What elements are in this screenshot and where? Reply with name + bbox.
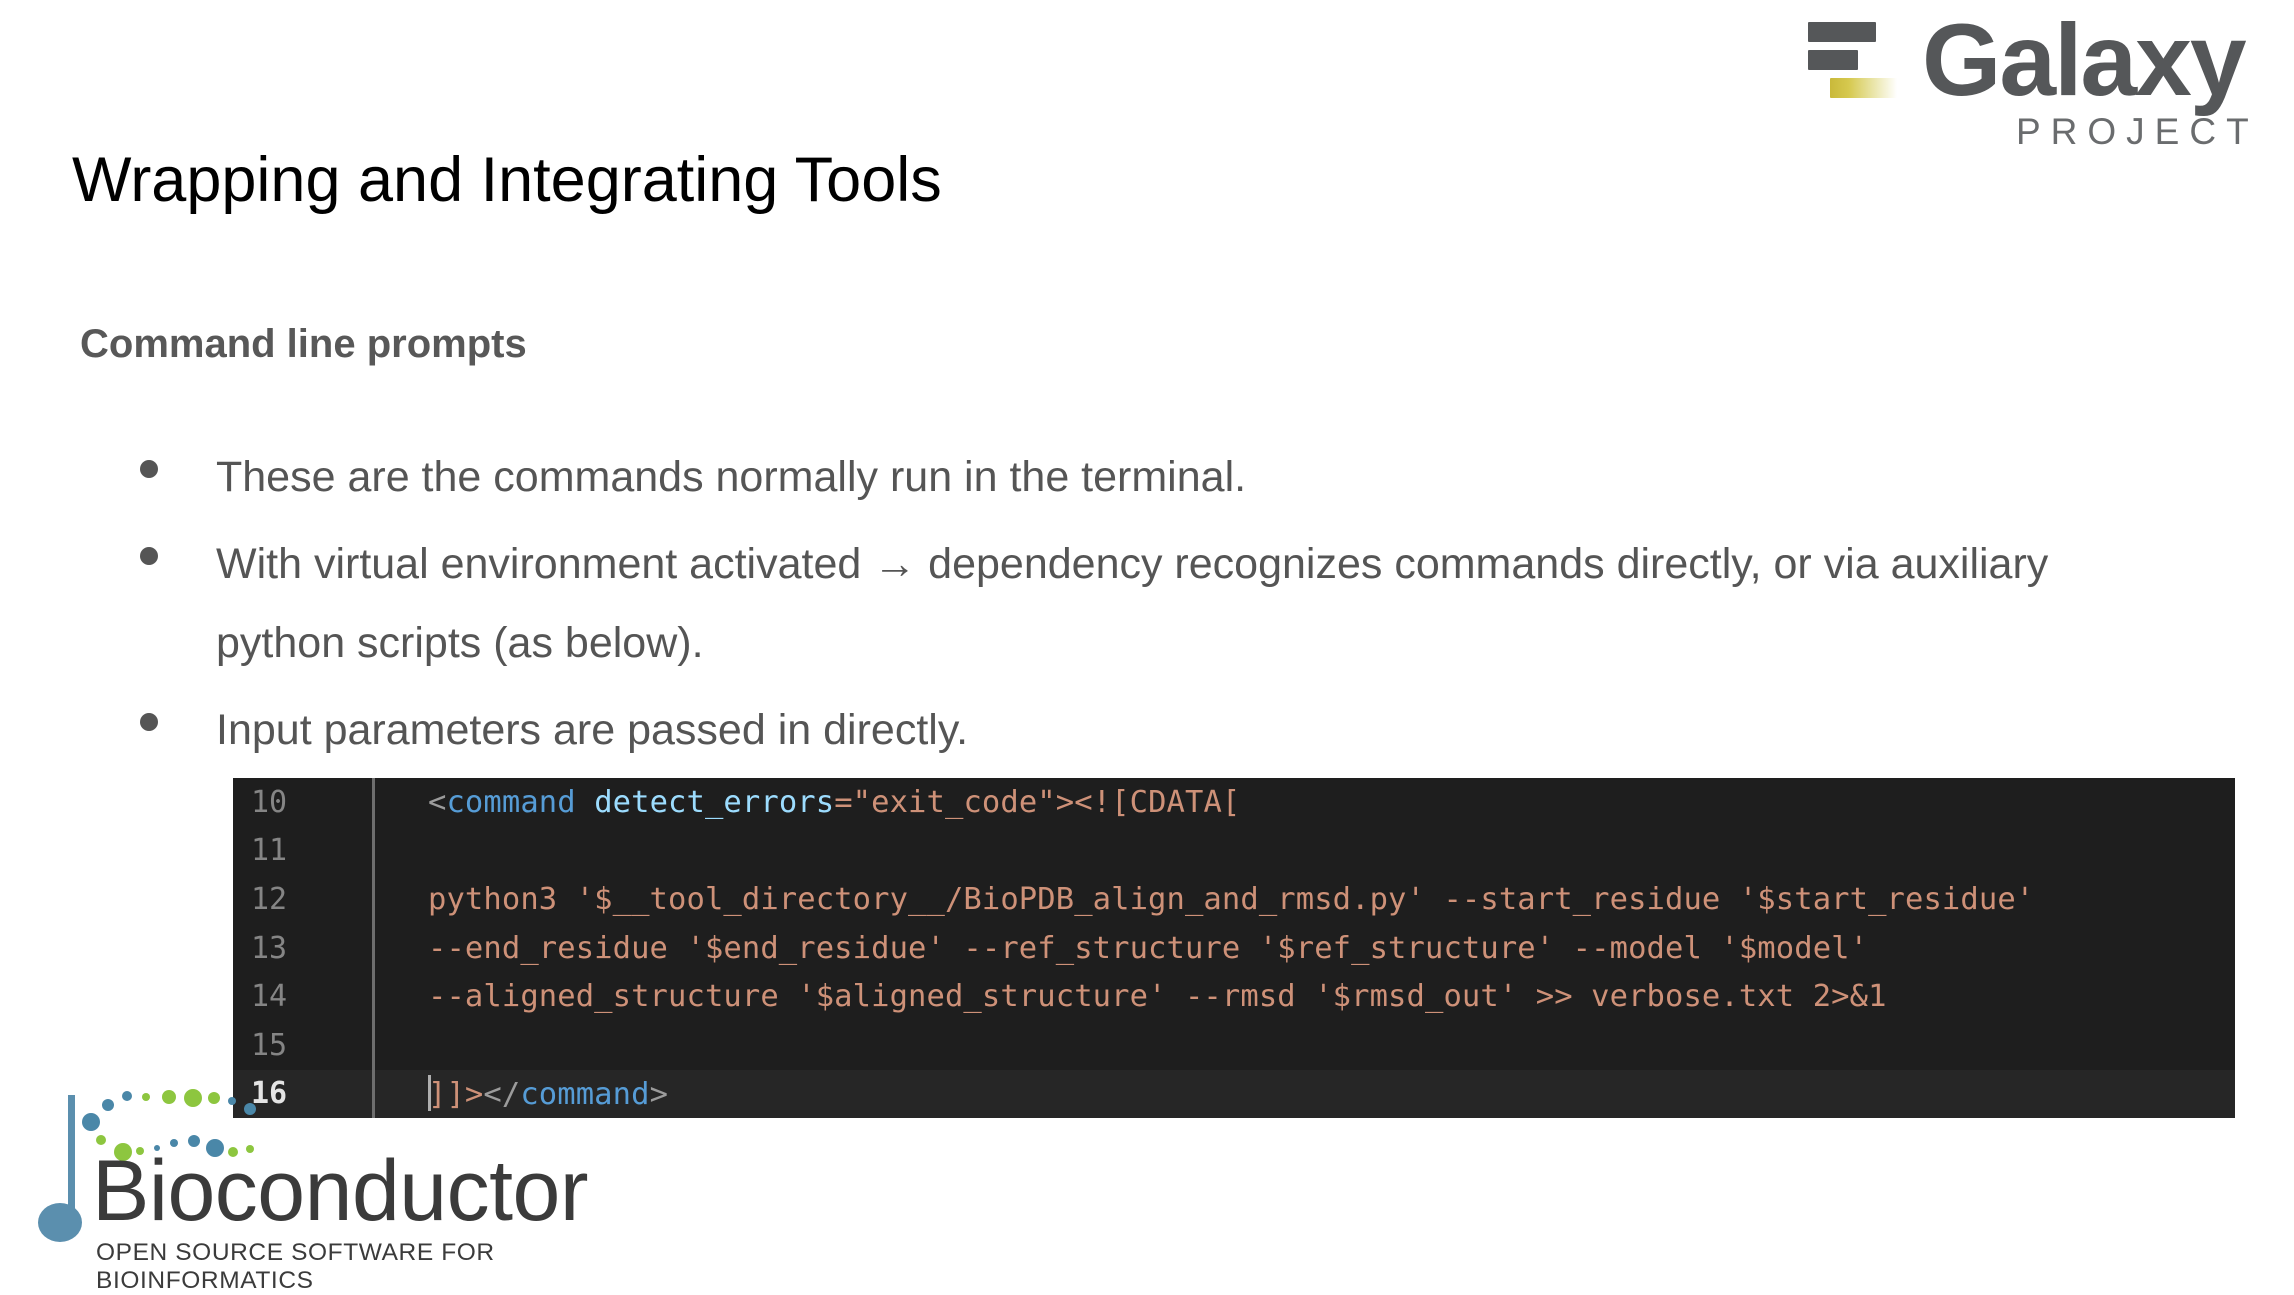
dna-dot-icon — [162, 1090, 176, 1104]
dna-dot-icon — [142, 1093, 150, 1101]
code-token: command — [446, 785, 575, 820]
galaxy-bar-accent — [1830, 78, 1897, 98]
code-line[interactable]: 14--aligned_structure '$aligned_structur… — [233, 972, 2235, 1021]
line-number: 10 — [233, 785, 355, 820]
dna-dot-icon — [208, 1092, 220, 1104]
code-line-content[interactable]: --end_residue '$end_residue' --ref_struc… — [355, 931, 2235, 966]
code-token: --aligned_structure '$aligned_structure'… — [428, 979, 1887, 1014]
list-item-label: With virtual environment activated → dep… — [216, 525, 2140, 683]
bullet-dot-icon — [140, 713, 158, 731]
dna-dot-icon — [244, 1103, 256, 1115]
code-line[interactable]: 13--end_residue '$end_residue' --ref_str… — [233, 924, 2235, 973]
dna-dot-icon — [228, 1097, 236, 1105]
dna-dot-icon — [102, 1099, 114, 1111]
page-title: Wrapping and Integrating Tools — [72, 144, 942, 216]
gutter-separator — [372, 972, 375, 1021]
code-token: python3 '$__tool_directory__/BioPDB_alig… — [428, 882, 2034, 917]
list-item-label: Input parameters are passed in directly. — [216, 691, 968, 770]
line-number: 15 — [233, 1028, 355, 1063]
bullet-dot-icon — [140, 547, 158, 565]
code-line-content[interactable]: python3 '$__tool_directory__/BioPDB_alig… — [355, 882, 2235, 917]
music-note-head-icon — [38, 1203, 82, 1242]
line-number: 12 — [233, 882, 355, 917]
galaxy-wordmark: Galaxy — [1922, 4, 2245, 116]
dna-dot-icon — [184, 1089, 202, 1107]
dna-dot-icon — [122, 1091, 132, 1101]
code-token: ="exit_code"><![CDATA[ — [834, 785, 1240, 820]
dna-dot-icon — [82, 1113, 100, 1131]
code-line-content[interactable]: --aligned_structure '$aligned_structure'… — [355, 979, 2235, 1014]
bioconductor-tagline: OPEN SOURCE SOFTWARE FOR BIOINFORMATICS — [96, 1239, 650, 1295]
code-token: > — [650, 1077, 668, 1112]
galaxy-bars-icon — [1800, 20, 1915, 110]
gutter-separator — [372, 1021, 375, 1070]
code-token: --end_residue '$end_residue' --ref_struc… — [428, 931, 1868, 966]
code-token: < — [428, 785, 446, 820]
list-item-label: These are the commands normally run in t… — [216, 438, 1246, 517]
line-number: 13 — [233, 931, 355, 966]
gutter-separator — [372, 778, 375, 827]
bioconductor-logo: Bioconductor OPEN SOURCE SOFTWARE FOR BI… — [30, 1073, 650, 1285]
gutter-separator — [372, 827, 375, 876]
gutter-separator — [372, 924, 375, 973]
code-token: detect_errors — [594, 785, 834, 820]
section-subtitle: Command line prompts — [80, 320, 527, 368]
list-item: With virtual environment activated → dep… — [140, 525, 2140, 683]
code-block[interactable]: 10<command detect_errors="exit_code"><![… — [233, 778, 2235, 1118]
code-token — [576, 785, 594, 820]
galaxy-bar-middle — [1808, 50, 1858, 70]
code-line[interactable]: 12python3 '$__tool_directory__/BioPDB_al… — [233, 875, 2235, 924]
galaxy-bar-top — [1808, 22, 1876, 42]
galaxy-subword: PROJECT — [2016, 112, 2259, 152]
line-number: 11 — [233, 833, 355, 868]
code-line[interactable]: 15 — [233, 1021, 2235, 1070]
galaxy-project-logo: Galaxy PROJECT — [1800, 4, 2280, 174]
gutter-separator — [372, 875, 375, 924]
list-item: Input parameters are passed in directly. — [140, 691, 2140, 770]
bullet-dot-icon — [140, 460, 158, 478]
code-line-content[interactable]: <command detect_errors="exit_code"><![CD… — [355, 785, 2235, 820]
line-number: 14 — [233, 979, 355, 1014]
list-item: These are the commands normally run in t… — [140, 438, 2140, 517]
bullet-list: These are the commands normally run in t… — [140, 438, 2140, 778]
code-line[interactable]: 10<command detect_errors="exit_code"><![… — [233, 778, 2235, 827]
code-line[interactable]: 11 — [233, 827, 2235, 876]
bioconductor-wordmark: Bioconductor — [92, 1141, 588, 1241]
